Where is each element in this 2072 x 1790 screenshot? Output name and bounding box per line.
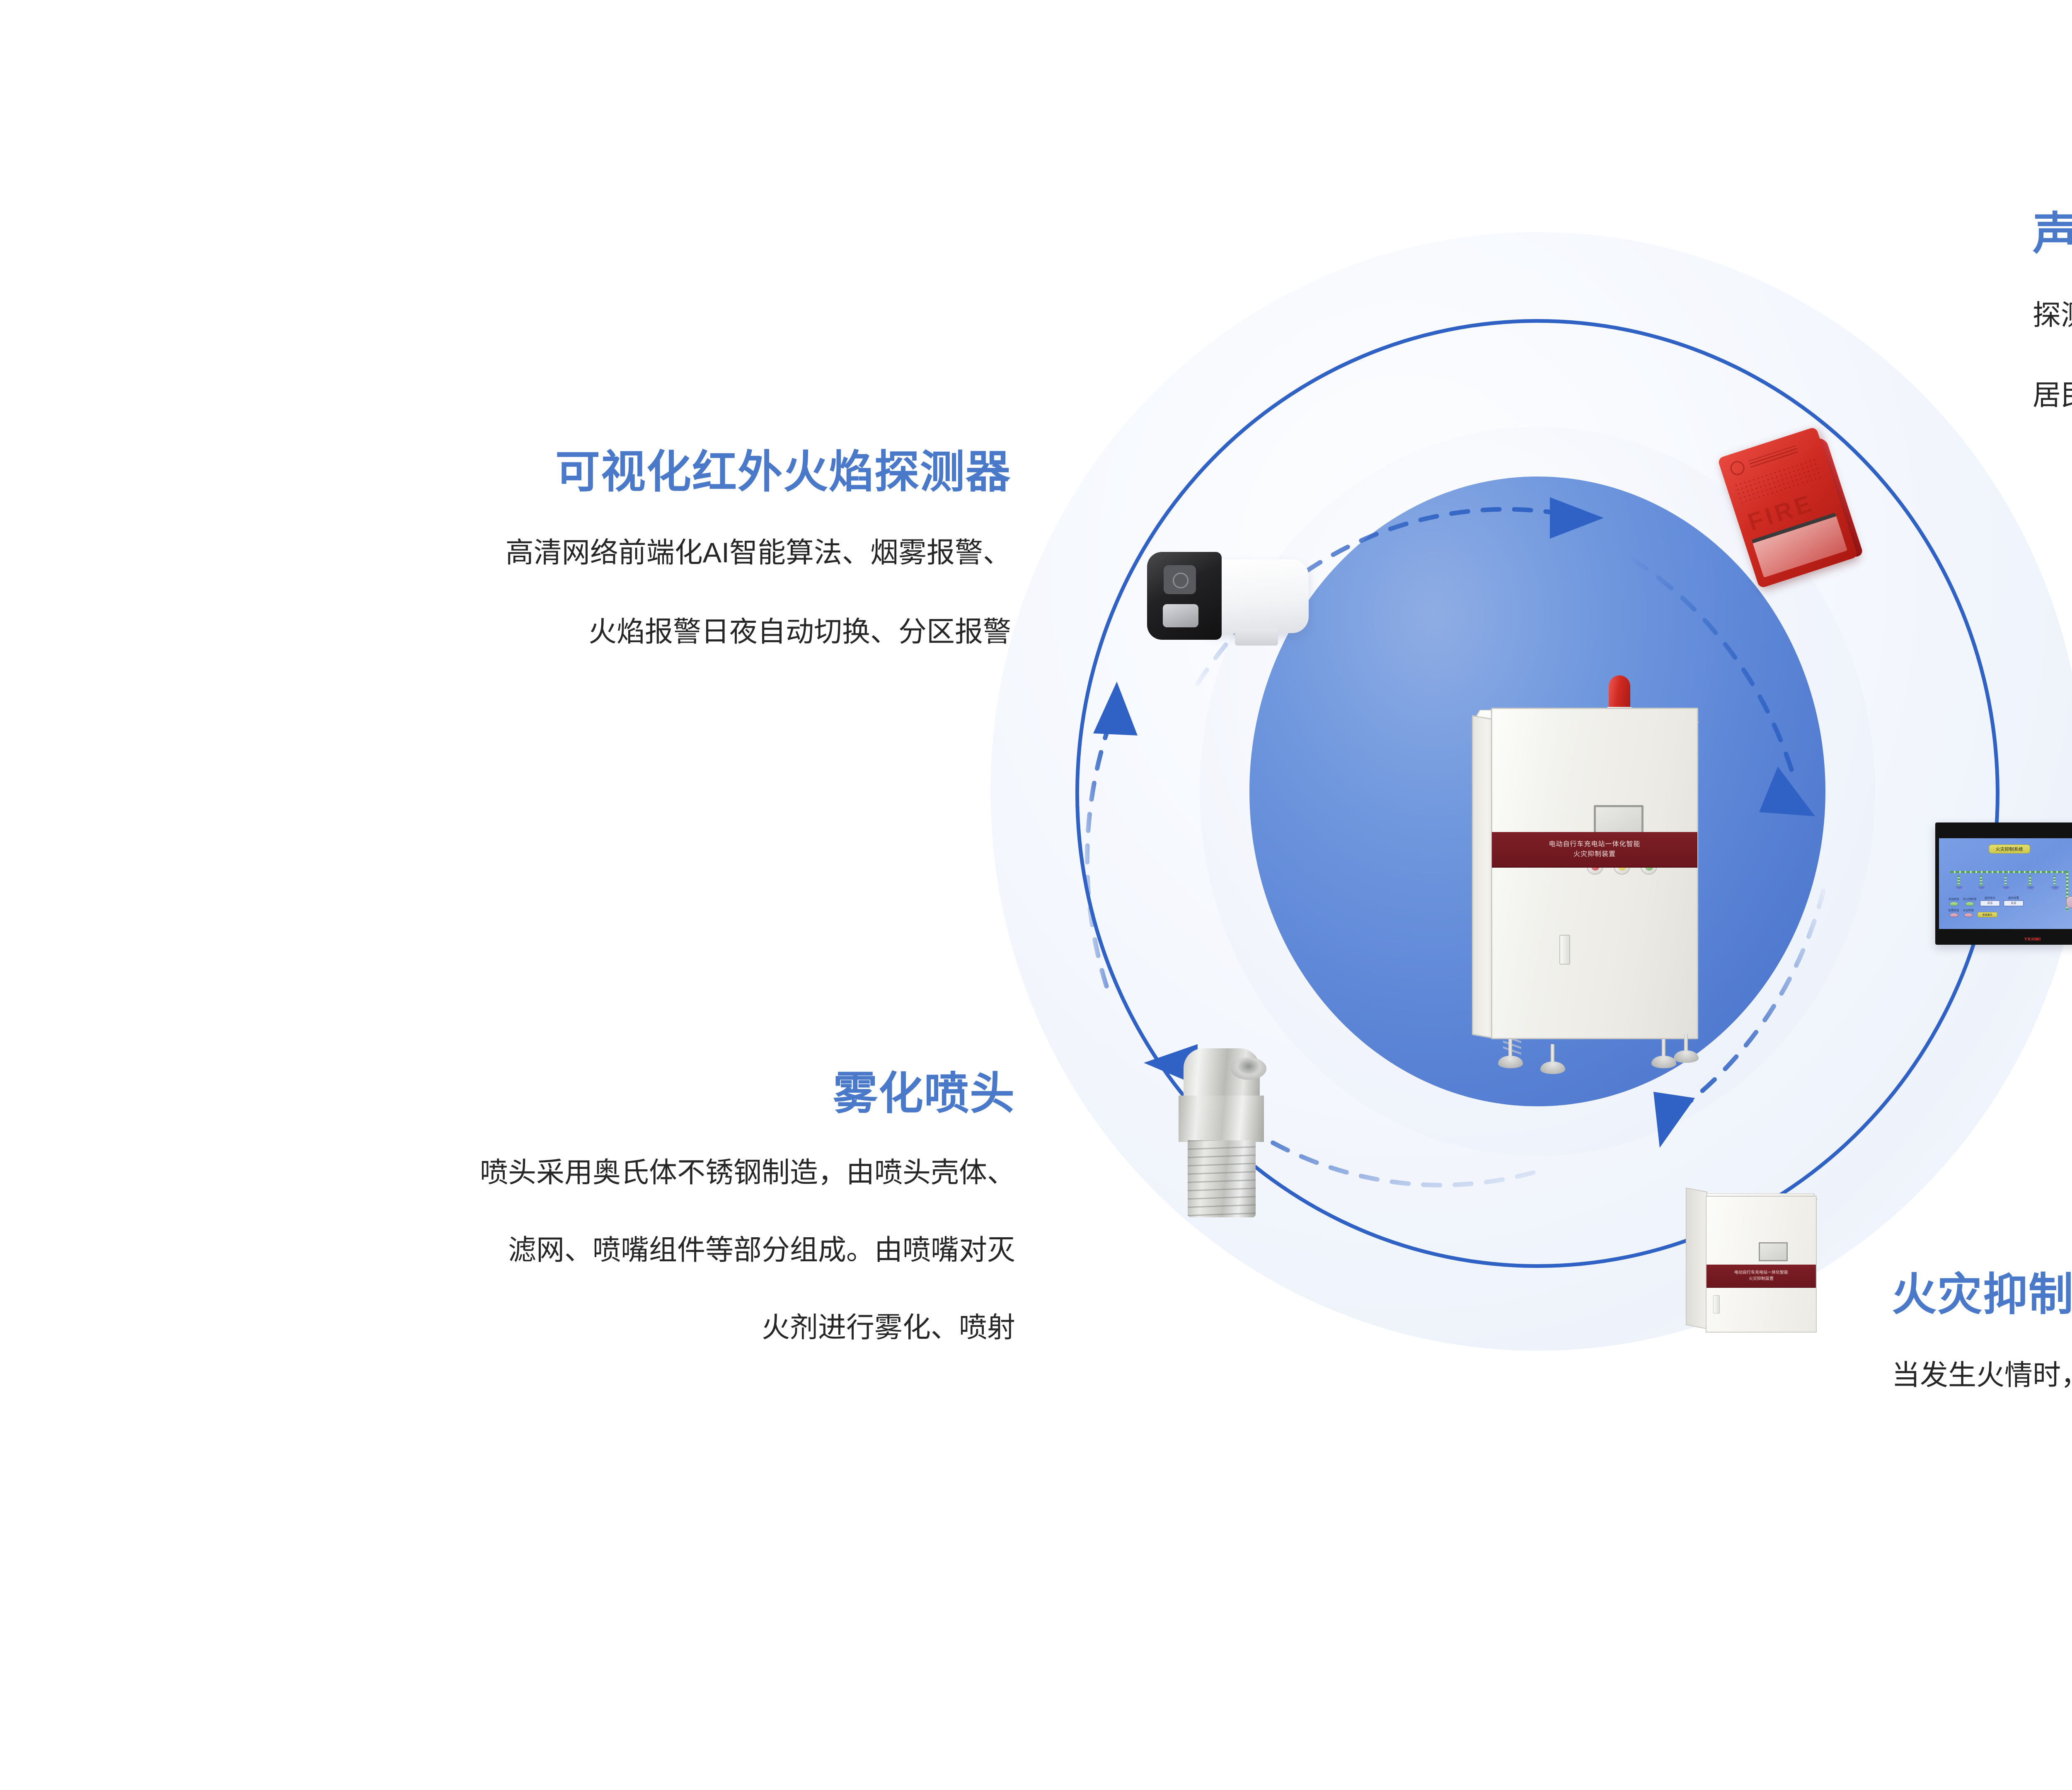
callout-alarm-line1: 探测联动，声光报警，实时提醒 bbox=[2033, 291, 2072, 340]
fire-suppression-device-cabinet: 电动自行车充电站一体化智能 火灾抑制装置 bbox=[1682, 1173, 1848, 1351]
cabinet-door-handle bbox=[1559, 935, 1570, 965]
panel-pump-symbol bbox=[2066, 896, 2072, 908]
cabinet-nameplate-line1: 电动自行车充电站一体化智能 bbox=[1549, 839, 1640, 849]
callout-detector-line2: 火焰报警日夜自动切换、分区报警 bbox=[145, 608, 1011, 656]
panel-screen[interactable]: 火灾抑制系统 24/04/08 09:39:57 总线状态 bbox=[1939, 838, 2072, 929]
panel-brand-label: YKHMI bbox=[2024, 937, 2041, 942]
suppress-display bbox=[1759, 1242, 1788, 1261]
callout-alarm-title: 声光报警 bbox=[2033, 207, 2072, 260]
suppress-nameplate-line2: 火灾抑制装置 bbox=[1749, 1276, 1774, 1282]
callout-detector-title: 可视化红外火焰探测器 bbox=[145, 445, 1011, 498]
callout-suppress-title: 火灾抑制装置 bbox=[1892, 1268, 2072, 1321]
callout-detector-line1: 高清网络前端化AI智能算法、烟雾报警、 bbox=[145, 529, 1011, 577]
nozzle-orifice bbox=[1231, 1057, 1266, 1080]
panel-control-agent-spray[interactable]: 灭火剂喷洒 bbox=[1963, 897, 1977, 906]
callout-nozzle: 雾化喷头 喷头采用奥氏体不锈钢制造，由喷头壳体、 滤网、喷嘴组件等部分组成。由喷… bbox=[75, 1067, 1015, 1352]
nozzle-hex-nut bbox=[1179, 1096, 1264, 1142]
cabinet-nameplate-line2: 火灾抑制装置 bbox=[1573, 849, 1616, 859]
callout-detector: 可视化红外火焰探测器 高清网络前端化AI智能算法、烟雾报警、 火焰报警日夜自动切… bbox=[145, 445, 1011, 656]
panel-control-delay-setting[interactable]: 延时设置 0.0 bbox=[2004, 895, 2024, 906]
multifunction-touch-panel: HMI RUN ERR 火灾抑制系统 24/04/08 09:39:57 bbox=[1935, 822, 2072, 945]
panel-screen-title: 火灾抑制系统 bbox=[1989, 844, 2030, 854]
callout-nozzle-title: 雾化喷头 bbox=[75, 1067, 1015, 1120]
panel-control-bus-status[interactable]: 总线状态 bbox=[1949, 897, 1959, 906]
panel-control-system-reset[interactable]: 系统复位 bbox=[1978, 912, 1997, 917]
panel-control-device-status[interactable]: 装置状态 bbox=[1949, 908, 1959, 917]
panel-control-delay-display[interactable]: 延时显示 0.0 bbox=[1980, 895, 2000, 906]
atomizing-mist-nozzle bbox=[1156, 1044, 1293, 1235]
camera-lens-icon bbox=[1164, 565, 1196, 594]
nozzle-thread bbox=[1188, 1140, 1256, 1217]
suppress-nameplate-line1: 电动自行车充电站一体化智能 bbox=[1734, 1270, 1788, 1276]
callout-suppress-line1: 当发生火情时，会迅速释放灭火药剂 bbox=[1892, 1351, 2072, 1400]
central-fire-suppression-cabinet: 电动自行车充电站一体化智能 火灾抑制装置 bbox=[1446, 659, 1761, 1073]
cabinet-nameplate: 电动自行车充电站一体化智能 火灾抑制装置 bbox=[1492, 832, 1697, 868]
infrared-flame-detector-camera bbox=[1131, 535, 1326, 675]
callout-nozzle-line3: 火剂进行雾化、喷射 bbox=[75, 1304, 1015, 1352]
diagram-stage: 电动自行车充电站一体化智能 火灾抑制装置 FIRE bbox=[0, 0, 2072, 1790]
panel-control-water-spray[interactable]: 水云喷洒 bbox=[1963, 908, 1974, 917]
suppress-door-handle bbox=[1713, 1295, 1720, 1313]
callout-alarm-line2: 居民撤离 bbox=[2033, 371, 2072, 420]
callout-suppress: 火灾抑制装置 当发生火情时，会迅速释放灭火药剂 bbox=[1892, 1268, 2072, 1400]
callout-nozzle-line2: 滤网、喷嘴组件等部分组成。由喷嘴对灭 bbox=[75, 1226, 1015, 1275]
callout-alarm: 声光报警 探测联动，声光报警，实时提醒 居民撤离 bbox=[2033, 207, 2072, 420]
suppress-nameplate: 电动自行车充电站一体化智能 火灾抑制装置 bbox=[1706, 1265, 1816, 1288]
camera-mount-bracket bbox=[1235, 629, 1278, 646]
callout-nozzle-line1: 喷头采用奥氏体不锈钢制造，由喷头壳体、 bbox=[75, 1149, 1015, 1197]
camera-ir-illuminator bbox=[1163, 604, 1198, 627]
